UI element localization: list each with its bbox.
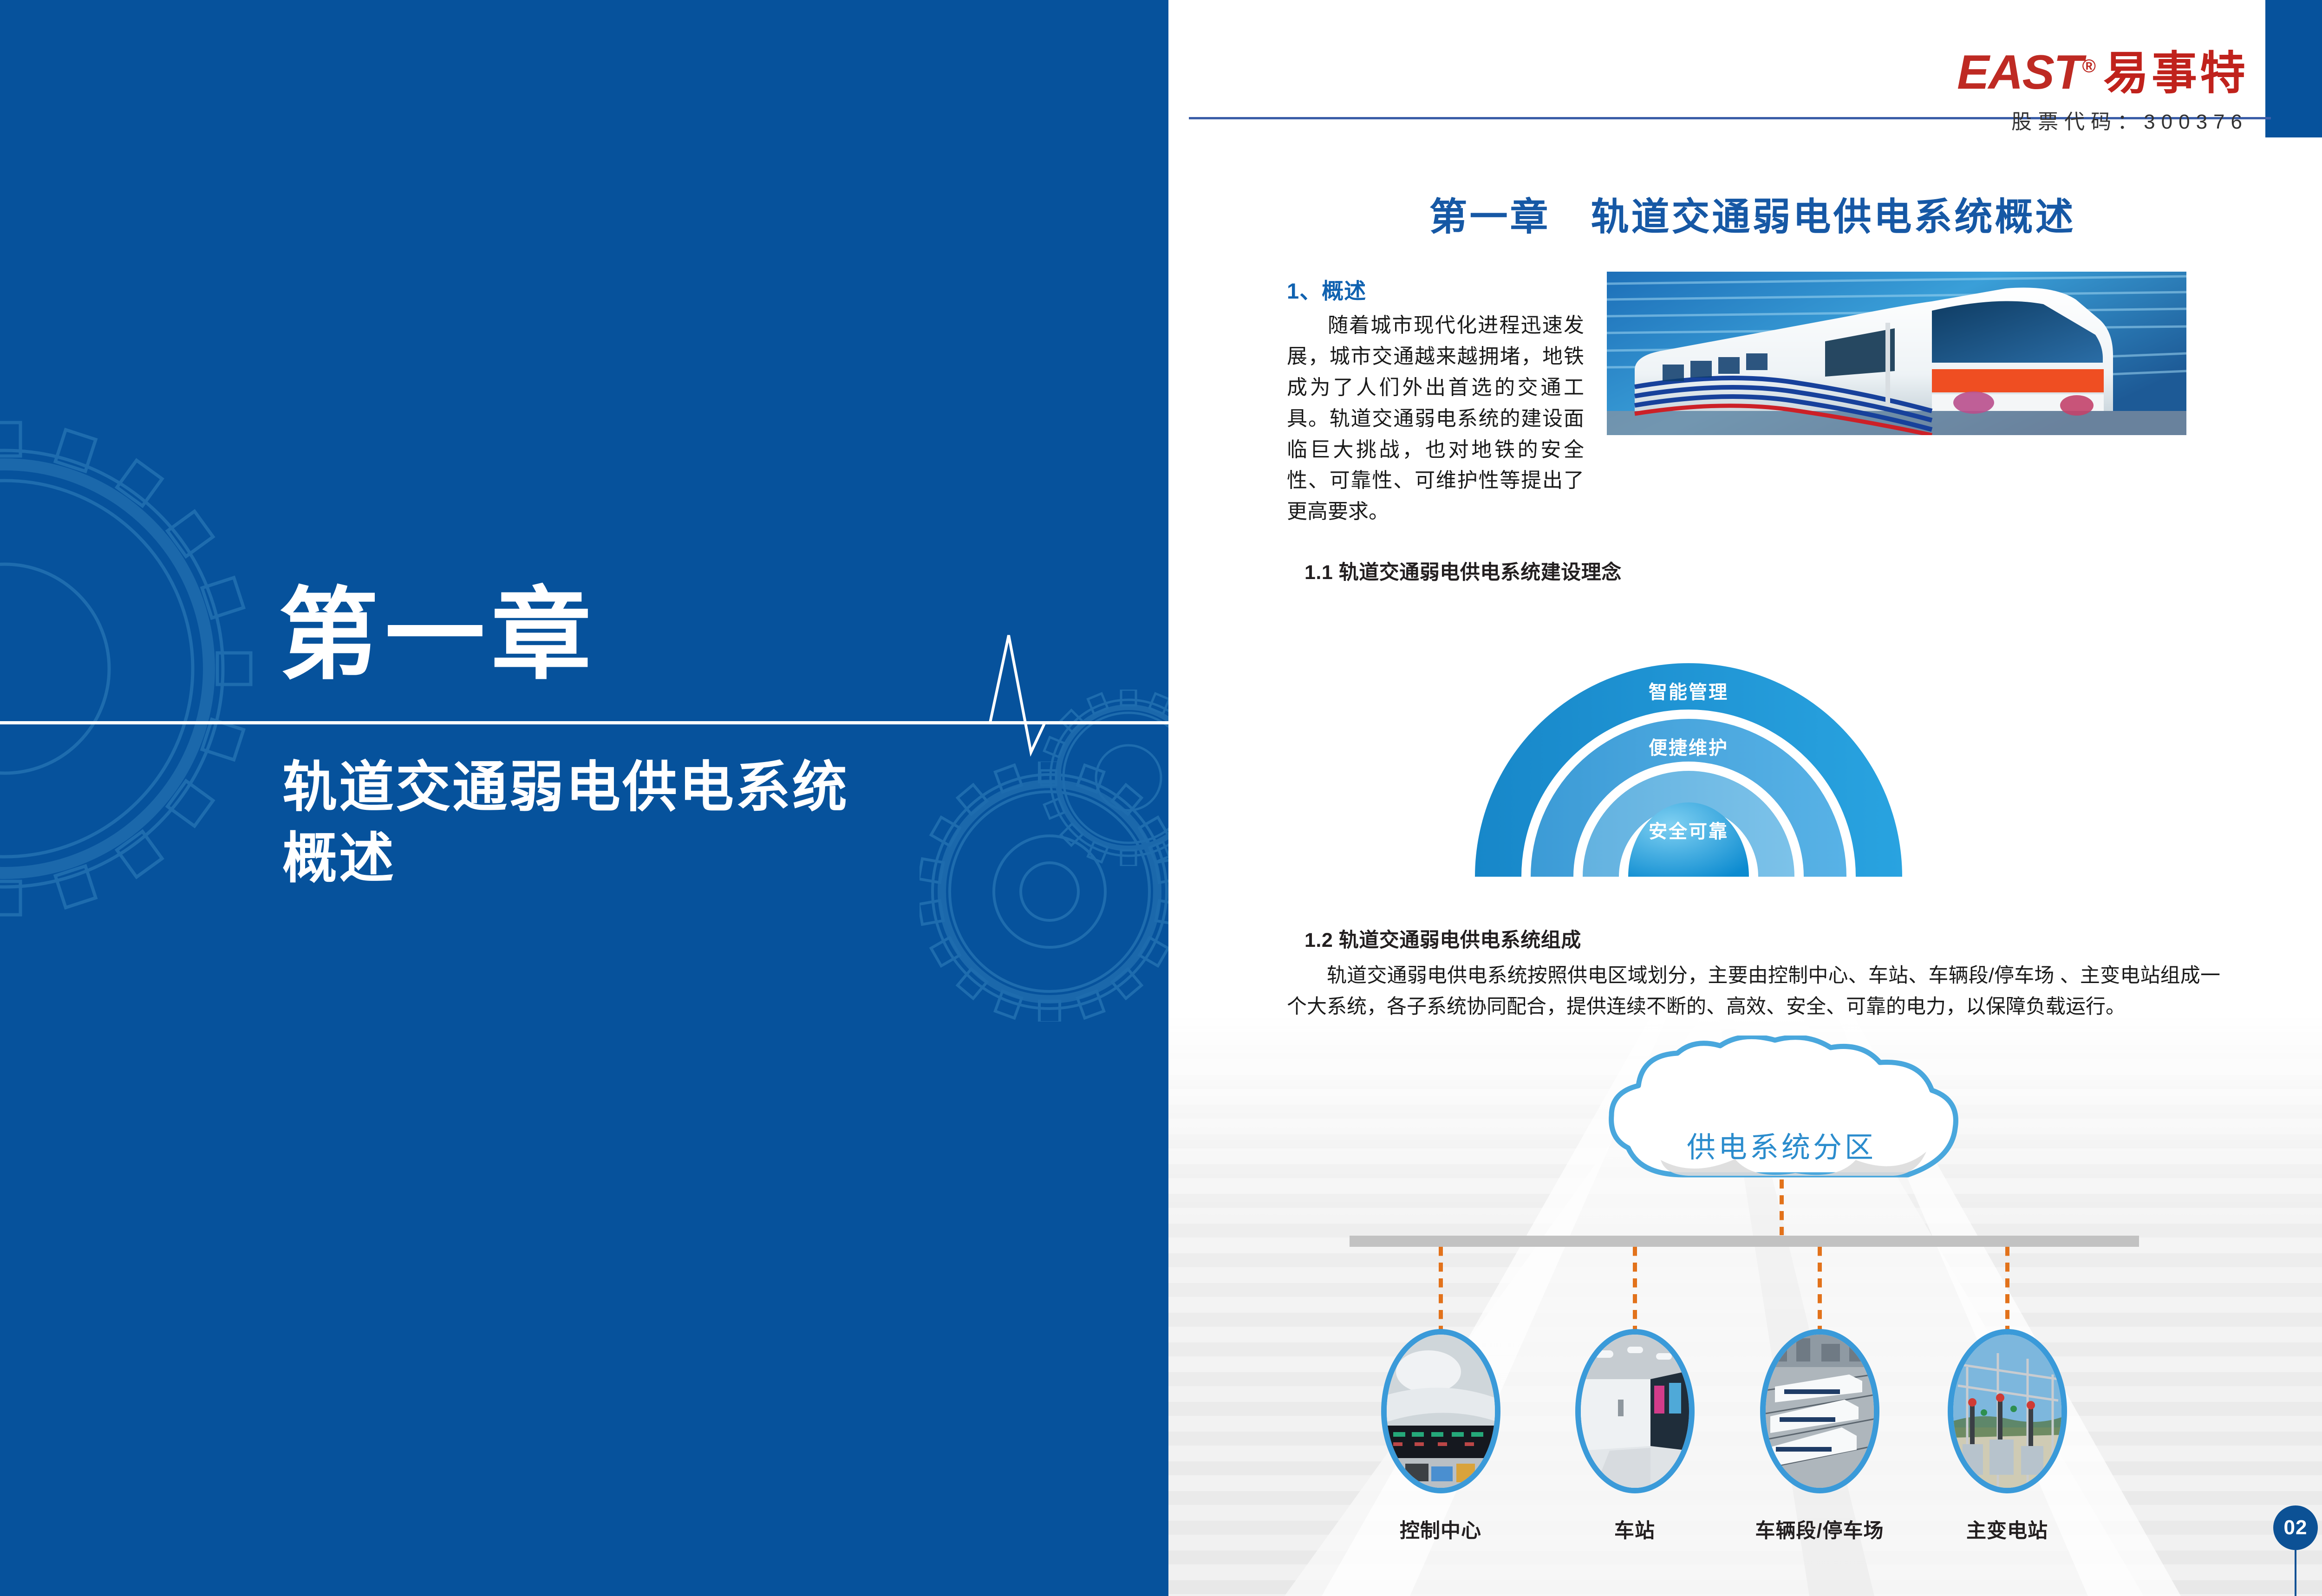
section-1-2-heading: 1.2 轨道交通弱电供电系统组成 [1304, 924, 1581, 953]
bus-to-node-connector-4 [2005, 1247, 2009, 1330]
east-logo: EAST®易事特 股票代码：300376 [1957, 36, 2248, 135]
node-label: 车辆段/停车场 [1750, 1515, 1889, 1544]
stock-code-label: 股票代码：300376 [1957, 105, 2248, 135]
header-corner-block [2265, 0, 2322, 137]
list-item: 车辆段/停车场 [1750, 1329, 1889, 1544]
bus-to-node-connector-1 [1439, 1247, 1443, 1330]
bus-to-node-connector-2 [1633, 1247, 1637, 1330]
section-1-1-heading: 1.1 轨道交通弱电供电系统建设理念 [1304, 556, 1622, 585]
construction-concept-arc-diagram: 绿色环保 智能管理 便捷维护 安全可靠 [1428, 589, 1949, 886]
chapter-subtitle-line-1: 轨道交通弱电供电系统 [282, 752, 979, 823]
distribution-bus-bar [1350, 1236, 2139, 1247]
registered-mark-icon: ® [2082, 56, 2095, 76]
gear-large-icon [0, 418, 316, 929]
cloud-to-bus-connector [1780, 1179, 1784, 1235]
arc-layer-label-3: 便捷维护 [1428, 733, 1949, 760]
pulse-line-icon [882, 604, 1168, 757]
arc-layer-label-1: 绿色环保 [1428, 617, 1949, 644]
bus-to-node-connector-3 [1818, 1247, 1822, 1330]
content-page: EAST®易事特 股票代码：300376 第一章 轨道交通弱电供电系统概述 1、… [1168, 0, 2322, 1596]
list-item: 车站 [1565, 1329, 1704, 1544]
logo-wordmark: EAST® [1957, 45, 2095, 100]
list-item: 主变电站 [1937, 1329, 2077, 1544]
chapter-divider-page: 第一章 轨道交通弱电供电系统 概述 [0, 0, 1168, 1596]
chapter-subtitle: 轨道交通弱电供电系统 概述 [282, 752, 979, 895]
list-item: 控制中心 [1371, 1329, 1510, 1544]
page-title: 第一章 轨道交通弱电供电系统概述 [1168, 186, 2322, 241]
cloud-label: 供电系统分区 [1596, 1124, 1967, 1166]
section-1-heading: 1、概述 [1287, 273, 1366, 305]
section-1-2-paragraph: 轨道交通弱电供电系统按照供电区域划分，主要由控制中心、车站、车辆段/停车场 、主… [1287, 960, 2220, 1023]
brochure-spread: 第一章 轨道交通弱电供电系统 概述 [0, 0, 2322, 1596]
section-1-paragraph: 随着城市现代化进程迅速发展，城市交通越来越拥堵，地铁成为了人们外出首选的交通工具… [1287, 310, 1584, 528]
chapter-subtitle-line-2: 概述 [282, 823, 979, 894]
node-label: 主变电站 [1937, 1515, 2077, 1544]
high-speed-train-photo [1607, 272, 2186, 435]
station-platform-photo [1575, 1329, 1695, 1493]
logo-chinese-name: 易事特 [2103, 36, 2248, 102]
arc-layer-label-4: 安全可靠 [1428, 816, 1949, 843]
page-number-badge: 02 [2273, 1505, 2318, 1550]
main-substation-photo [1948, 1329, 2067, 1493]
page-number-stem [2295, 1550, 2296, 1596]
node-label: 控制中心 [1371, 1515, 1510, 1544]
arc-layer-label-2: 智能管理 [1428, 677, 1949, 704]
control-center-photo [1381, 1329, 1500, 1493]
depot-yard-photo [1760, 1329, 1879, 1493]
chapter-number-title: 第一章 [279, 583, 598, 688]
node-label: 车站 [1565, 1515, 1704, 1544]
